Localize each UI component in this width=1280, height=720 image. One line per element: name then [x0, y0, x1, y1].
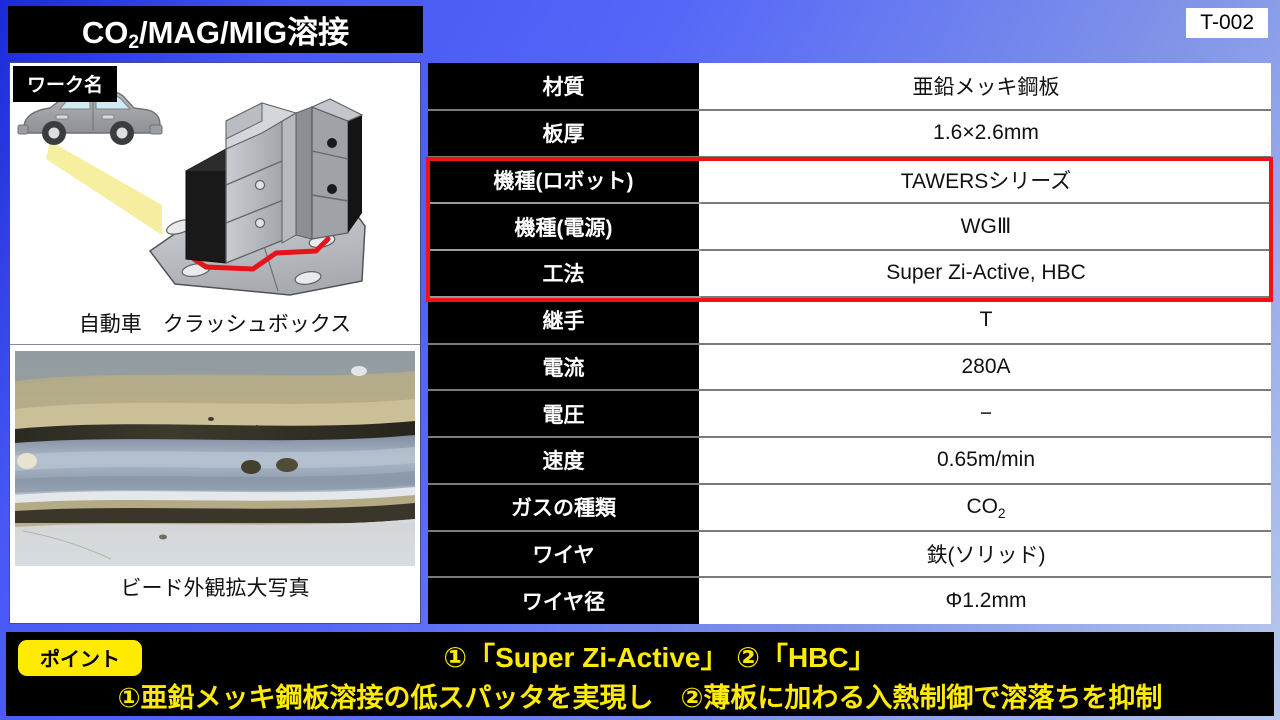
weld-bead-macro-photo [15, 351, 415, 566]
work-name-badge-label: ワーク名 [27, 75, 103, 96]
spec-row: 電流280A [428, 344, 1271, 391]
spec-label-cell: 継手 [428, 297, 700, 344]
spec-label-cell: 速度 [428, 437, 700, 484]
weld-bead-photo-frame [15, 351, 415, 566]
spec-value-cell: 0.65m/min [700, 437, 1271, 484]
spec-row: 継手T [428, 297, 1271, 344]
slide-root: CO2/MAG/MIG溶接 T-002 ワーク名 [0, 0, 1280, 720]
spec-label-cell: 材質 [428, 63, 700, 110]
spec-label-cell: ワイヤ径 [428, 577, 700, 624]
spec-row: 機種(電源)WGⅢ [428, 203, 1271, 250]
page-title: CO2/MAG/MIG溶接 [82, 7, 349, 52]
photo-caption: ビード外観拡大写真 [10, 572, 420, 602]
spec-label-cell: 工法 [428, 250, 700, 297]
work-caption: 自動車 クラッシュボックス [10, 308, 420, 338]
banner-line-2: ①亜鉛メッキ鋼板溶接の低スパッタを実現し ②薄板に加わる入熱制御で溶落ちを抑制 [6, 676, 1274, 715]
spec-value-cell: Super Zi-Active, HBC [700, 250, 1271, 297]
panel-divider [10, 344, 420, 345]
spec-row: ワイヤ径Φ1.2mm [428, 577, 1271, 624]
title-bar: CO2/MAG/MIG溶接 [8, 6, 423, 53]
spec-row: 板厚1.6×2.6mm [428, 110, 1271, 157]
spec-value-cell: − [700, 390, 1271, 437]
document-id-text: T-002 [1200, 11, 1254, 34]
spec-row: 速度0.65m/min [428, 437, 1271, 484]
spec-value-cell: 280A [700, 344, 1271, 391]
spec-row: ガスの種類CO2 [428, 484, 1271, 531]
spec-value-cell: TAWERSシリーズ [700, 157, 1271, 204]
spec-label-cell: ワイヤ [428, 531, 700, 578]
specification-table: 材質亜鉛メッキ鋼板板厚1.6×2.6mm機種(ロボット)TAWERSシリーズ機種… [428, 63, 1271, 624]
spec-value-cell: Φ1.2mm [700, 577, 1271, 624]
spec-row: 材質亜鉛メッキ鋼板 [428, 63, 1271, 110]
spec-value-cell: WGⅢ [700, 203, 1271, 250]
spec-label-cell: 電圧 [428, 390, 700, 437]
spec-value-cell: 鉄(ソリッド) [700, 531, 1271, 578]
spec-row: 工法Super Zi-Active, HBC [428, 250, 1271, 297]
spec-row: 機種(ロボット)TAWERSシリーズ [428, 157, 1271, 204]
spec-value-cell: CO2 [700, 484, 1271, 531]
spec-label-cell: 機種(電源) [428, 203, 700, 250]
spec-label-cell: ガスの種類 [428, 484, 700, 531]
spec-row: ワイヤ鉄(ソリッド) [428, 531, 1271, 578]
work-panel: ワーク名 [9, 62, 421, 624]
spec-label-cell: 電流 [428, 344, 700, 391]
spec-label-cell: 板厚 [428, 110, 700, 157]
spec-value-cell: 亜鉛メッキ鋼板 [700, 63, 1271, 110]
document-id-badge: T-002 [1186, 8, 1268, 38]
spec-value-cell: T [700, 297, 1271, 344]
spec-label-cell: 機種(ロボット) [428, 157, 700, 204]
spec-value-cell: 1.6×2.6mm [700, 110, 1271, 157]
spec-row: 電圧− [428, 390, 1271, 437]
work-name-badge: ワーク名 [13, 66, 117, 102]
banner-line-1: ①「Super Zi-Active」 ②「HBC」 [6, 636, 1274, 676]
point-banner: ポイント ①「Super Zi-Active」 ②「HBC」 ①亜鉛メッキ鋼板溶… [6, 632, 1274, 716]
